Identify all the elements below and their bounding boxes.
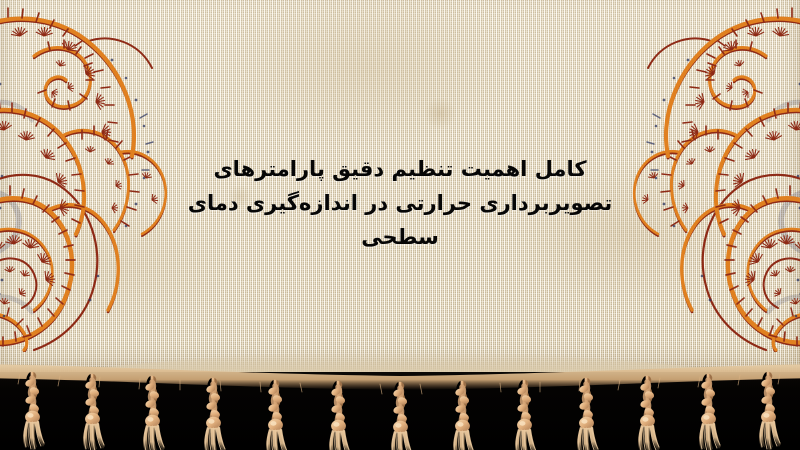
title-line-1: کامل اهمیت تنظیم دقیق پارامترهای — [0, 152, 800, 186]
title-line-3: سطحی — [0, 220, 800, 254]
slide-title: کامل اهمیت تنظیم دقیق پارامترهای تصویربر… — [0, 152, 800, 254]
tassel-fringe — [0, 364, 800, 450]
slide-canvas: کامل اهمیت تنظیم دقیق پارامترهای تصویربر… — [0, 0, 800, 450]
title-line-2: تصویربرداری حرارتی در اندازه‌گیری دمای — [0, 186, 800, 220]
